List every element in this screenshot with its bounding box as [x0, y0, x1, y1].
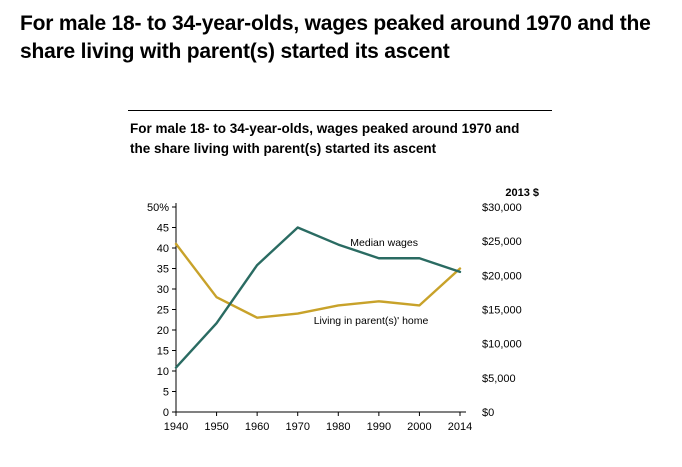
right-axis-tick-label: $20,000 [482, 270, 522, 282]
left-axis-tick-label: 50% [147, 202, 169, 214]
chart-title: For male 18- to 34-year-olds, wages peak… [130, 119, 540, 158]
right-axis-tick-label: $15,000 [482, 305, 522, 317]
right-axis-tick-label: $30,000 [482, 202, 522, 214]
series-label-median-wages: Median wages [350, 237, 418, 249]
left-axis-tick-label: 15 [157, 346, 169, 358]
header-divider [128, 110, 552, 111]
left-axis-tick-label: 10 [157, 366, 169, 378]
x-axis-tick-label: 1990 [367, 421, 391, 433]
left-axis-tick-label: 0 [163, 407, 169, 419]
left-axis-tick-label: 25 [157, 305, 169, 317]
series-label-living-with-parents: Living in parent(s)' home [314, 315, 429, 327]
x-axis-tick-label: 1940 [164, 421, 188, 433]
line-chart: 05101520253035404550%$0$5,000$10,000$15,… [130, 185, 550, 450]
chart-container: 2013 $ 05101520253035404550%$0$5,000$10,… [130, 185, 550, 450]
x-axis-tick-label: 1970 [285, 421, 309, 433]
page-root: For male 18- to 34-year-olds, wages peak… [0, 0, 682, 467]
x-axis-tick-label: 1950 [204, 421, 228, 433]
right-axis-tick-label: $25,000 [482, 236, 522, 248]
left-axis-tick-label: 35 [157, 264, 169, 276]
left-axis-tick-label: 5 [163, 387, 169, 399]
x-axis-tick-label: 1960 [245, 421, 269, 433]
page-headline: For male 18- to 34-year-olds, wages peak… [20, 10, 660, 65]
right-axis-tick-label: $0 [482, 407, 494, 419]
x-axis-tick-label: 1980 [326, 421, 350, 433]
left-axis-tick-label: 45 [157, 223, 169, 235]
left-axis-tick-label: 40 [157, 243, 169, 255]
right-axis-tick-label: $5,000 [482, 373, 516, 385]
left-axis-tick-label: 30 [157, 284, 169, 296]
x-axis-tick-label: 2014 [448, 421, 472, 433]
x-axis-tick-label: 2000 [407, 421, 431, 433]
right-axis-tick-label: $10,000 [482, 339, 522, 351]
series-line-living-with-parents [176, 244, 460, 318]
left-axis-tick-label: 20 [157, 325, 169, 337]
